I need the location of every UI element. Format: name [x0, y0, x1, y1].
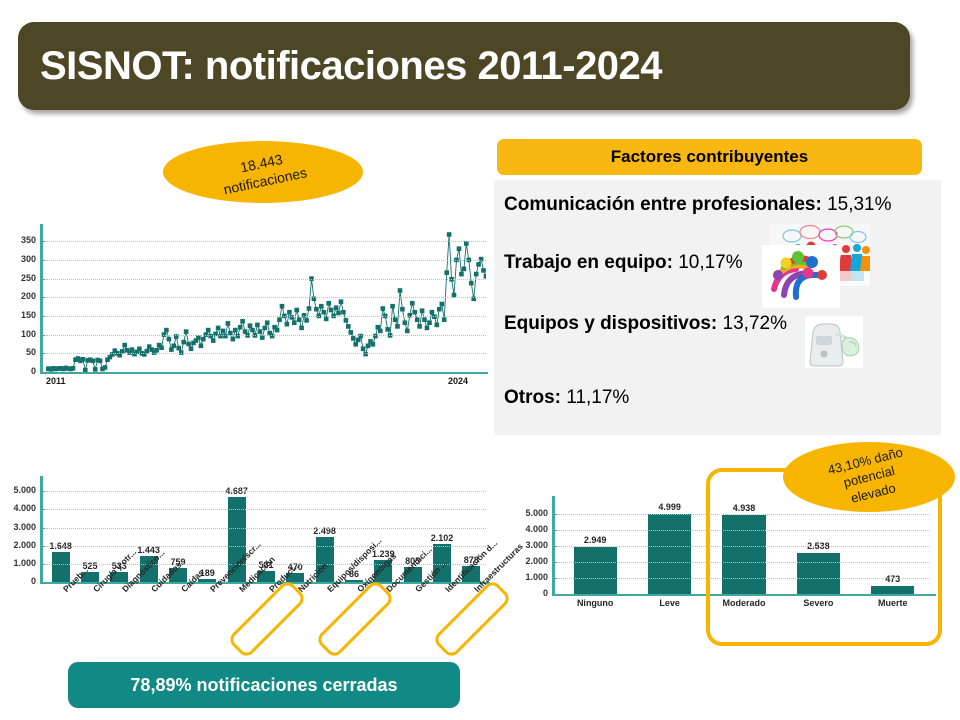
nebulizer-device-icon: [805, 316, 863, 368]
factores-contribuyentes-panel: Comunicación entre profesionales: 15,31%…: [494, 180, 941, 435]
categorias-gridline: [46, 509, 486, 510]
severidad-y-tick-label: 3.000: [500, 540, 548, 550]
callout-notificaciones-text: 18.443 notificaciones: [218, 146, 308, 198]
factor-row: Otros: 11,17%: [504, 387, 629, 409]
factor-label: Equipos y dispositivos:: [504, 313, 717, 334]
categorias-y-tick-mark: [41, 564, 45, 565]
categorias-y-tick-label: 2.000: [4, 540, 36, 550]
slide-canvas: SISNOT: notificaciones 2011-2024 2011 20…: [0, 0, 960, 720]
callout-notificaciones: 18.443 notificaciones: [163, 141, 363, 203]
categorias-y-tick-mark: [41, 509, 45, 510]
bar: [52, 552, 70, 582]
callout-dano-text: 43,10% daño potencial elevado: [826, 444, 912, 510]
timeseries-y-tick-mark: [41, 335, 45, 336]
slide-title-banner: SISNOT: notificaciones 2011-2024: [18, 22, 910, 110]
timeseries-gridline: [46, 279, 486, 280]
notificaciones-cerradas-banner: 78,89% notificaciones cerradas: [68, 662, 460, 708]
timeseries-y-tick-mark: [41, 353, 45, 354]
notificaciones-cerradas-label: 78,89% notificaciones cerradas: [130, 675, 397, 696]
timeseries-axis-line-h: [40, 372, 488, 374]
timeseries-gridline: [46, 353, 486, 354]
categorias-y-tick-mark: [41, 546, 45, 547]
timeseries-y-tick-label: 250: [8, 273, 36, 283]
severidad-y-tick-mark: [553, 530, 557, 531]
factores-header-label: Factores contribuyentes: [611, 147, 808, 167]
categorias-y-tick-label: 3.000: [4, 522, 36, 532]
factor-value: 15,31%: [827, 194, 891, 215]
factor-row: Comunicación entre profesionales: 15,31%: [504, 194, 892, 216]
factor-value: 11,17%: [566, 387, 629, 408]
severidad-y-tick-mark: [553, 594, 557, 595]
timeseries-y-tick-mark: [41, 279, 45, 280]
timeseries-y-tick-mark: [41, 241, 45, 242]
categorias-gridline: [46, 528, 486, 529]
categorias-y-tick-label: 4.000: [4, 503, 36, 513]
timeseries-y-tick-label: 100: [8, 329, 36, 339]
categorias-gridline: [46, 546, 486, 547]
severity-axis-label: Ninguno: [558, 598, 632, 608]
timeseries-plot-area: [46, 230, 486, 372]
timeseries-y-tick-label: 300: [8, 254, 36, 264]
bar-value-label: 2.102: [425, 533, 459, 543]
timeseries-y-tick-label: 0: [8, 366, 36, 376]
factor-label: Trabajo en equipo:: [504, 252, 673, 273]
factores-contribuyentes-header: Factores contribuyentes: [497, 139, 922, 175]
severidad-y-tick-mark: [553, 546, 557, 547]
severity-axis-label: Leve: [632, 598, 706, 608]
teamwork-figures-icon: [762, 245, 840, 308]
severidad-y-tick-label: 4.000: [500, 524, 548, 534]
timeseries-y-tick-label: 50: [8, 347, 36, 357]
timeseries-gridline: [46, 260, 486, 261]
severidad-y-tick-mark: [553, 562, 557, 563]
timeseries-y-tick-label: 350: [8, 235, 36, 245]
severidad-y-tick-label: 2.000: [500, 556, 548, 566]
categorias-y-tick-label: 1.000: [4, 558, 36, 568]
factor-value: 10,17%: [678, 252, 742, 273]
categorias-y-tick-mark: [41, 528, 45, 529]
timeseries-x-label-end: 2024: [448, 376, 468, 386]
categorias-gridline: [46, 491, 486, 492]
factor-label: Otros:: [504, 387, 561, 408]
timeseries-y-tick-mark: [41, 316, 45, 317]
timeseries-chart: 2011 2024 050100150200250300350: [8, 222, 488, 390]
factor-value: 13,72%: [723, 313, 787, 334]
timeseries-y-tick-mark: [41, 297, 45, 298]
timeseries-series: [46, 230, 486, 372]
timeseries-gridline: [46, 297, 486, 298]
timeseries-y-tick-mark: [41, 260, 45, 261]
timeseries-gridline: [46, 316, 486, 317]
factor-row: Trabajo en equipo: 10,17%: [504, 252, 743, 274]
severidad-y-tick-label: 5.000: [500, 508, 548, 518]
factor-row: Equipos y dispositivos: 13,72%: [504, 313, 787, 335]
callout-dano-potencial: 43,10% daño potencial elevado: [783, 442, 955, 512]
categorias-y-tick-label: 5.000: [4, 485, 36, 495]
timeseries-y-tick-label: 200: [8, 291, 36, 301]
timeseries-gridline: [46, 335, 486, 336]
bar: [574, 547, 617, 594]
severidad-y-tick-label: 1.000: [500, 572, 548, 582]
severidad-y-tick-mark: [553, 578, 557, 579]
bar: [648, 514, 691, 594]
categorias-y-tick-mark: [41, 582, 45, 583]
timeseries-y-tick-label: 150: [8, 310, 36, 320]
page-title: SISNOT: notificaciones 2011-2024: [18, 44, 662, 89]
bar-value-label: 2.949: [564, 535, 627, 545]
timeseries-x-label-start: 2011: [46, 376, 66, 386]
severidad-y-tick-mark: [553, 514, 557, 515]
categorias-y-tick-label: 0: [4, 576, 36, 586]
bar-value-label: 4.999: [638, 502, 701, 512]
factor-label: Comunicación entre profesionales:: [504, 194, 822, 215]
timeseries-y-tick-mark: [41, 372, 45, 373]
categorias-y-tick-mark: [41, 491, 45, 492]
timeseries-gridline: [46, 241, 486, 242]
